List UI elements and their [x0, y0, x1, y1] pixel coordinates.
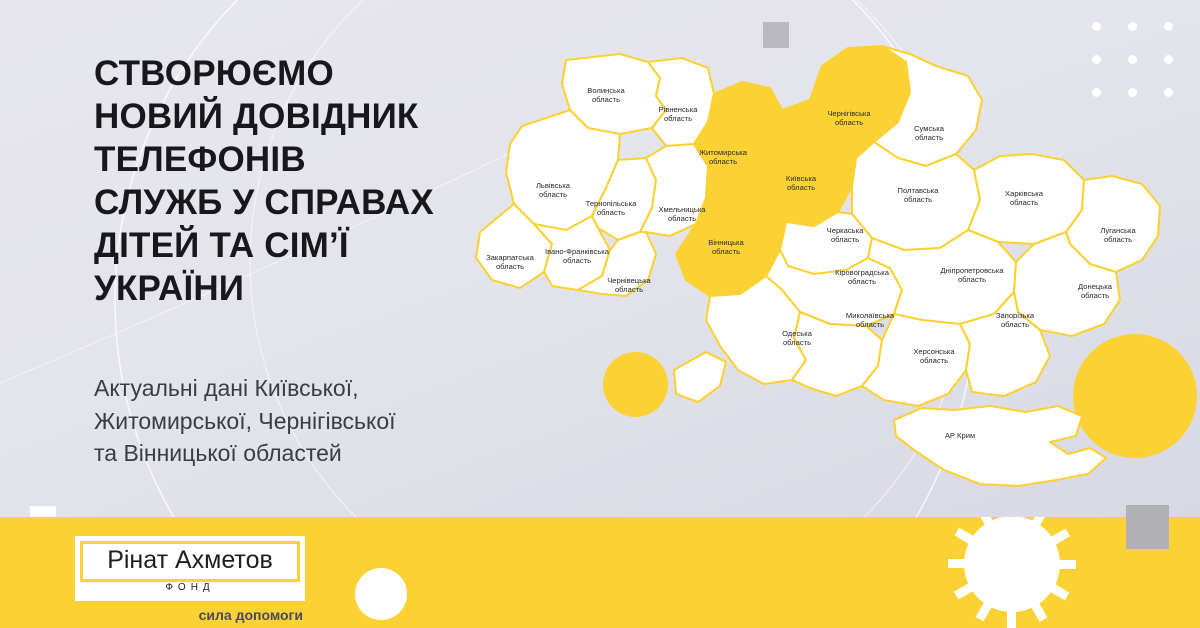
page-title: СТВОРЮЄМО НОВИЙ ДОВІДНИК ТЕЛЕФОНІВ СЛУЖБ… [94, 52, 524, 310]
sunburst-decoration [892, 517, 1132, 628]
map-region-crimea [894, 406, 1106, 486]
map-region-kherson [862, 314, 970, 406]
sunburst-ray [1007, 576, 1016, 628]
poster-canvas: СТВОРЮЄМО НОВИЙ ДОВІДНИК ТЕЛЕФОНІВ СЛУЖБ… [0, 0, 1200, 628]
map-region-odesa [674, 276, 806, 402]
foundation-logo[interactable]: Рінат Ахметов Фонд сила допомоги [75, 536, 305, 623]
white-circle-decoration [355, 568, 407, 620]
logo-rule-left [80, 586, 158, 589]
gray-square-decoration-band [1126, 505, 1169, 549]
map-region-shapes [476, 46, 1160, 486]
logo-name: Рінат Ахметов [93, 548, 287, 573]
logo-rule-right [222, 586, 300, 589]
logo-fond-label: Фонд [158, 582, 221, 593]
logo-tagline: сила допомоги [75, 607, 305, 623]
sunburst-ray [1024, 560, 1076, 569]
sunburst-ray [948, 559, 1000, 568]
logo-fond-row: Фонд [80, 579, 300, 596]
logo-frame: Рінат Ахметов Фонд [75, 536, 305, 601]
sunburst-ray [1008, 517, 1017, 552]
logo-inner-border: Рінат Ахметов [80, 541, 300, 582]
ukraine-regions-map: ВолинськаобластьРівненськаобластьЛьвівсь… [470, 18, 1200, 508]
